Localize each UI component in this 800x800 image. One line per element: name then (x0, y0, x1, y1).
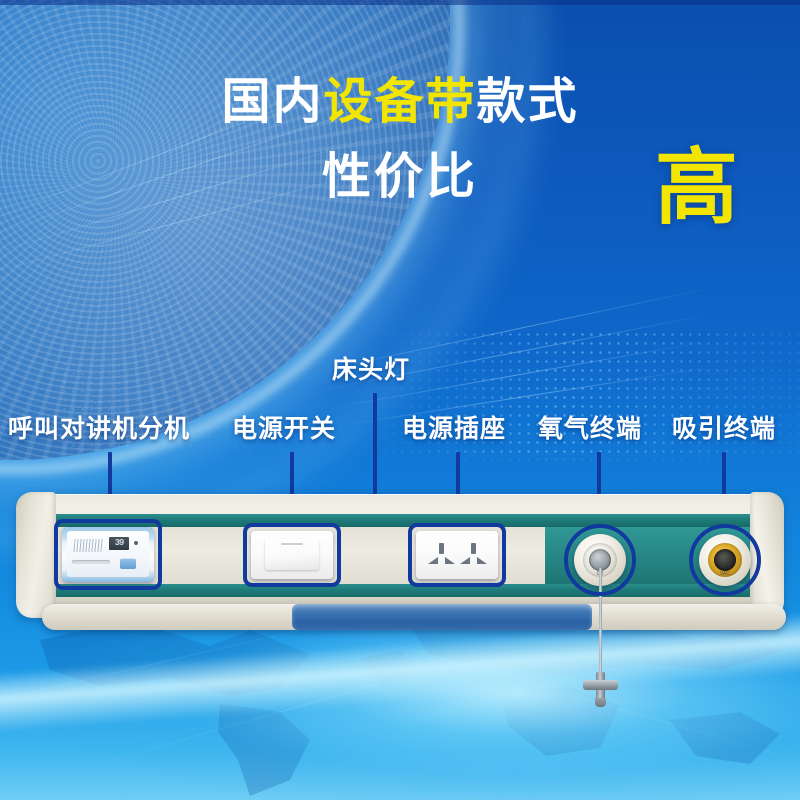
intercom-led-indicator (134, 541, 138, 545)
panel-end-cap-right (750, 492, 784, 618)
socket-pin-right-left (445, 557, 455, 564)
promo-image: 国内设备带款式 性价比 高 呼叫对讲机分机 电源开关 床头灯 电源插座 氧气终端… (0, 0, 800, 800)
pull-cord-line (599, 568, 602, 680)
callout-label-power-socket: 电源插座 (402, 417, 506, 442)
callout-label-bedside-lamp: 床头灯 (332, 358, 410, 383)
socket-pin-top-right (471, 543, 476, 554)
top-edge-bar (0, 0, 800, 5)
pull-cord-horizontal-bar (583, 680, 618, 690)
callout-label-intercom: 呼叫对讲机分机 (8, 417, 190, 442)
headline-accent-word: 高 (655, 146, 738, 229)
nurse-call-intercom[interactable]: 39 (62, 527, 154, 582)
callout-label-power-switch: 电源开关 (232, 417, 336, 442)
intercom-face (67, 531, 149, 577)
suction-terminal[interactable]: VAC (699, 534, 751, 586)
panel-stripe-bottom (48, 584, 754, 597)
panel-rail-blue-section (292, 604, 592, 630)
intercom-slot (72, 560, 110, 564)
socket-outlet-left[interactable] (427, 540, 457, 570)
pull-cord-tip (595, 698, 606, 707)
pull-cord-cross-handle[interactable] (583, 672, 618, 700)
panel-stripe-top (48, 514, 754, 527)
power-socket-plate[interactable] (416, 531, 498, 579)
socket-pin-left-right (460, 557, 470, 564)
speaker-grille-icon (73, 539, 102, 552)
socket-pin-left-left (428, 557, 438, 564)
socket-pin-top-left (439, 543, 444, 554)
suction-terminal-port[interactable] (714, 549, 736, 571)
callout-label-oxygen: 氧气终端 (538, 417, 642, 442)
socket-pin-right-right (477, 557, 487, 564)
callout-label-suction: 吸引终端 (672, 417, 776, 442)
power-switch-rocker[interactable] (265, 539, 319, 570)
socket-outlet-right[interactable] (459, 540, 489, 570)
intercom-display: 39 (109, 537, 129, 550)
power-switch-plate[interactable] (251, 531, 333, 579)
panel-end-cap-left (16, 492, 56, 618)
intercom-call-button[interactable] (120, 558, 136, 569)
suction-terminal-marking: VAC (715, 572, 735, 577)
